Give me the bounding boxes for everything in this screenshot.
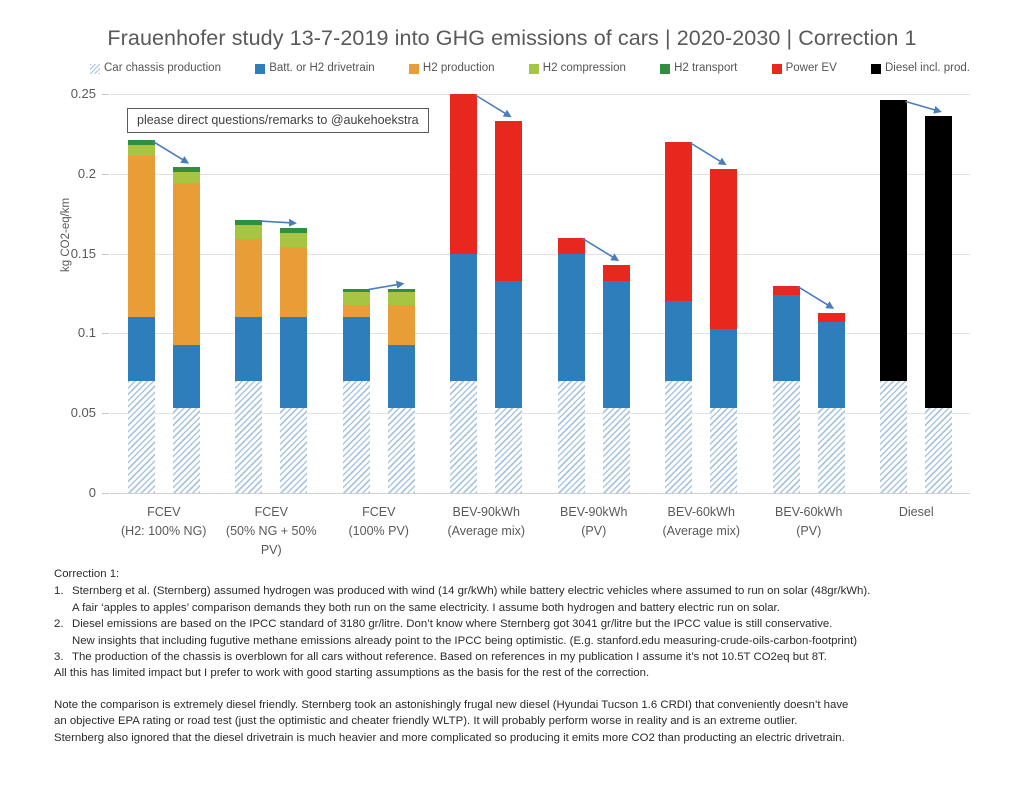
footer-numbered-item: 2.Diesel emissions are based on the IPCC… (54, 616, 1004, 649)
category-line-2: (PV) (755, 522, 863, 541)
gridline (110, 174, 970, 175)
bar-segment-h2comp (343, 292, 370, 305)
legend-label: H2 compression (543, 63, 626, 75)
footer-spacer (54, 682, 1004, 697)
bar-segment-h2prod (173, 183, 200, 344)
bar-segment-drivetrain (173, 345, 200, 409)
footer-item-line: New insights that including fugutive met… (72, 633, 1004, 649)
legend-label: H2 transport (674, 63, 737, 75)
footer-notes: Correction 1:1.Sternberg et al. (Sternbe… (54, 566, 1004, 746)
x-axis-category-label: BEV-60kWh(PV) (755, 503, 863, 541)
plot-area: 00.050.10.150.20.25 (110, 94, 970, 493)
page-title: Frauenhofer study 13-7-2019 into GHG emi… (0, 26, 1024, 51)
bar-segment-chassis (710, 408, 737, 493)
chart-legend: Car chassis productionBatt. or H2 drivet… (90, 63, 970, 75)
bar-segment-powerev (495, 121, 522, 281)
bar-segment-h2comp (173, 172, 200, 183)
y-axis-tick-mark (102, 254, 109, 255)
category-line-1: FCEV (362, 505, 395, 519)
footer-paragraph-line: Sternberg also ignored that the diesel d… (54, 730, 1004, 746)
bar-segment-drivetrain (558, 254, 585, 382)
category-line-2: (Average mix) (433, 522, 541, 541)
legend-label: Car chassis production (104, 63, 221, 75)
legend-item-h2trans: H2 transport (660, 63, 737, 75)
legend-label: Diesel incl. prod. (885, 63, 970, 75)
bar-segment-powerev (818, 313, 845, 323)
category-line-1: BEV-90kWh (453, 505, 520, 519)
bar-segment-h2comp (280, 233, 307, 247)
footer-item-line: Sternberg et al. (Sternberg) assumed hyd… (72, 583, 1004, 599)
bar-segment-drivetrain (280, 317, 307, 408)
footer-item-body: Sternberg et al. (Sternberg) assumed hyd… (72, 583, 1004, 616)
bar-segment-powerev (450, 94, 477, 254)
bar-segment-drivetrain (665, 301, 692, 381)
bar-segment-h2trans (343, 289, 370, 292)
category-line-1: FCEV (255, 505, 288, 519)
bar-segment-chassis (880, 381, 907, 493)
legend-swatch-drivetrain-icon (255, 64, 265, 74)
x-axis-category-label: BEV-90kWh(Average mix) (433, 503, 541, 541)
bar-segment-drivetrain (343, 317, 370, 381)
legend-swatch-powerev-icon (772, 64, 782, 74)
footer-item-number: 1. (54, 583, 72, 616)
legend-label: Batt. or H2 drivetrain (269, 63, 374, 75)
category-line-1: Diesel (899, 505, 934, 519)
bar-segment-drivetrain (128, 317, 155, 381)
bar-segment-chassis (173, 408, 200, 493)
bar-segment-chassis (495, 408, 522, 493)
legend-item-h2comp: H2 compression (529, 63, 626, 75)
footer-numbered-item: 3.The production of the chassis is overb… (54, 649, 1004, 665)
footer-paragraph-line: Note the comparison is extremely diesel … (54, 697, 1004, 713)
footer-item-line: A fair ‘apples to apples’ comparison dem… (72, 600, 1004, 616)
legend-item-h2prod: H2 production (409, 63, 495, 75)
bar-segment-diesel (880, 100, 907, 381)
bar-segment-diesel (925, 116, 952, 408)
bar-segment-h2prod (128, 156, 155, 317)
contact-annotation: please direct questions/remarks to @auke… (127, 108, 429, 133)
y-axis-tick-label: 0.25 (40, 86, 96, 101)
bar-segment-chassis (925, 408, 952, 493)
bar-segment-chassis (773, 381, 800, 493)
bar-segment-chassis (665, 381, 692, 493)
legend-label: H2 production (423, 63, 495, 75)
bar-segment-drivetrain (450, 254, 477, 382)
footer-heading: Correction 1: (54, 566, 1004, 582)
bar-segment-chassis (450, 381, 477, 493)
legend-label: Power EV (786, 63, 837, 75)
bar-segment-h2prod (280, 247, 307, 317)
y-axis-tick-mark (102, 174, 109, 175)
bar-segment-chassis (235, 381, 262, 493)
bar-segment-drivetrain (818, 322, 845, 408)
bar-segment-chassis (558, 381, 585, 493)
y-axis-tick-label: 0.2 (40, 166, 96, 181)
x-axis-category-label: FCEV(50% NG + 50% PV) (218, 503, 326, 560)
footer-item-body: The production of the chassis is overblo… (72, 649, 1004, 665)
gridline (110, 94, 970, 95)
footer-item-number: 2. (54, 616, 72, 649)
chart-page: Frauenhofer study 13-7-2019 into GHG emi… (0, 0, 1024, 794)
category-line-2: (Average mix) (648, 522, 756, 541)
bar-segment-chassis (388, 408, 415, 493)
bar-segment-powerev (603, 265, 630, 281)
bar-segment-chassis (343, 381, 370, 493)
footer-paragraph-line: an objective EPA rating or road test (ju… (54, 713, 1004, 729)
y-axis-tick-mark (102, 493, 109, 494)
category-line-1: BEV-60kWh (775, 505, 842, 519)
category-line-2: (PV) (540, 522, 648, 541)
y-axis-tick-label: 0.1 (40, 325, 96, 340)
x-axis-category-label: FCEV(100% PV) (325, 503, 433, 541)
bar-segment-h2comp (235, 225, 262, 239)
category-line-2: (50% NG + 50% PV) (218, 522, 326, 560)
y-axis-tick-mark (102, 413, 109, 414)
legend-item-powerev: Power EV (772, 63, 837, 75)
bar-segment-chassis (128, 381, 155, 493)
bar-segment-drivetrain (235, 317, 262, 381)
bar-segment-drivetrain (495, 281, 522, 409)
gridline (110, 493, 970, 494)
legend-item-diesel: Diesel incl. prod. (871, 63, 970, 75)
category-line-1: BEV-60kWh (668, 505, 735, 519)
y-axis-title: kg CO2-eq/km (60, 198, 72, 272)
bar-segment-h2trans (388, 289, 415, 292)
bar-segment-drivetrain (603, 281, 630, 409)
x-axis-category-label: Diesel (863, 503, 971, 522)
footer-item-line: Diesel emissions are based on the IPCC s… (72, 616, 1004, 632)
y-axis-tick-label: 0 (40, 485, 96, 500)
bar-segment-h2trans (128, 140, 155, 145)
footer-closing-line: All this has limited impact but I prefer… (54, 665, 1004, 681)
y-axis-tick-mark (102, 333, 109, 334)
bar-segment-h2trans (235, 220, 262, 225)
category-line-1: FCEV (147, 505, 180, 519)
legend-swatch-diesel-icon (871, 64, 881, 74)
bar-segment-h2prod (235, 239, 262, 317)
bar-segment-powerev (665, 142, 692, 302)
bar-segment-h2comp (128, 145, 155, 156)
x-axis-category-label: FCEV(H2: 100% NG) (110, 503, 218, 541)
footer-numbered-item: 1.Sternberg et al. (Sternberg) assumed h… (54, 583, 1004, 616)
bar-segment-chassis (818, 408, 845, 493)
category-line-1: BEV-90kWh (560, 505, 627, 519)
x-axis-category-label: BEV-60kWh(Average mix) (648, 503, 756, 541)
bar-segment-drivetrain (710, 329, 737, 409)
bar-segment-h2trans (280, 228, 307, 233)
bar-segment-h2trans (173, 167, 200, 172)
bar-segment-h2prod (388, 305, 415, 345)
bar-segment-h2prod (343, 305, 370, 318)
bar-segment-chassis (280, 408, 307, 493)
legend-item-drivetrain: Batt. or H2 drivetrain (255, 63, 374, 75)
bar-segment-powerev (558, 238, 585, 254)
legend-item-chassis: Car chassis production (90, 63, 221, 75)
category-line-2: (H2: 100% NG) (110, 522, 218, 541)
y-axis-tick-label: 0.15 (40, 246, 96, 261)
bar-segment-powerev (710, 169, 737, 329)
bar-segment-chassis (603, 408, 630, 493)
bar-segment-powerev (773, 286, 800, 296)
footer-item-number: 3. (54, 649, 72, 665)
legend-swatch-h2comp-icon (529, 64, 539, 74)
bar-segment-drivetrain (388, 345, 415, 409)
x-axis-category-label: BEV-90kWh(PV) (540, 503, 648, 541)
footer-item-line: The production of the chassis is overblo… (72, 649, 1004, 665)
bar-segment-drivetrain (773, 295, 800, 381)
category-line-2: (100% PV) (325, 522, 433, 541)
footer-item-body: Diesel emissions are based on the IPCC s… (72, 616, 1004, 649)
y-axis-tick-label: 0.05 (40, 405, 96, 420)
y-axis-tick-mark (102, 94, 109, 95)
legend-swatch-h2trans-icon (660, 64, 670, 74)
legend-swatch-chassis-icon (90, 64, 100, 74)
legend-swatch-h2prod-icon (409, 64, 419, 74)
bar-segment-h2comp (388, 292, 415, 305)
